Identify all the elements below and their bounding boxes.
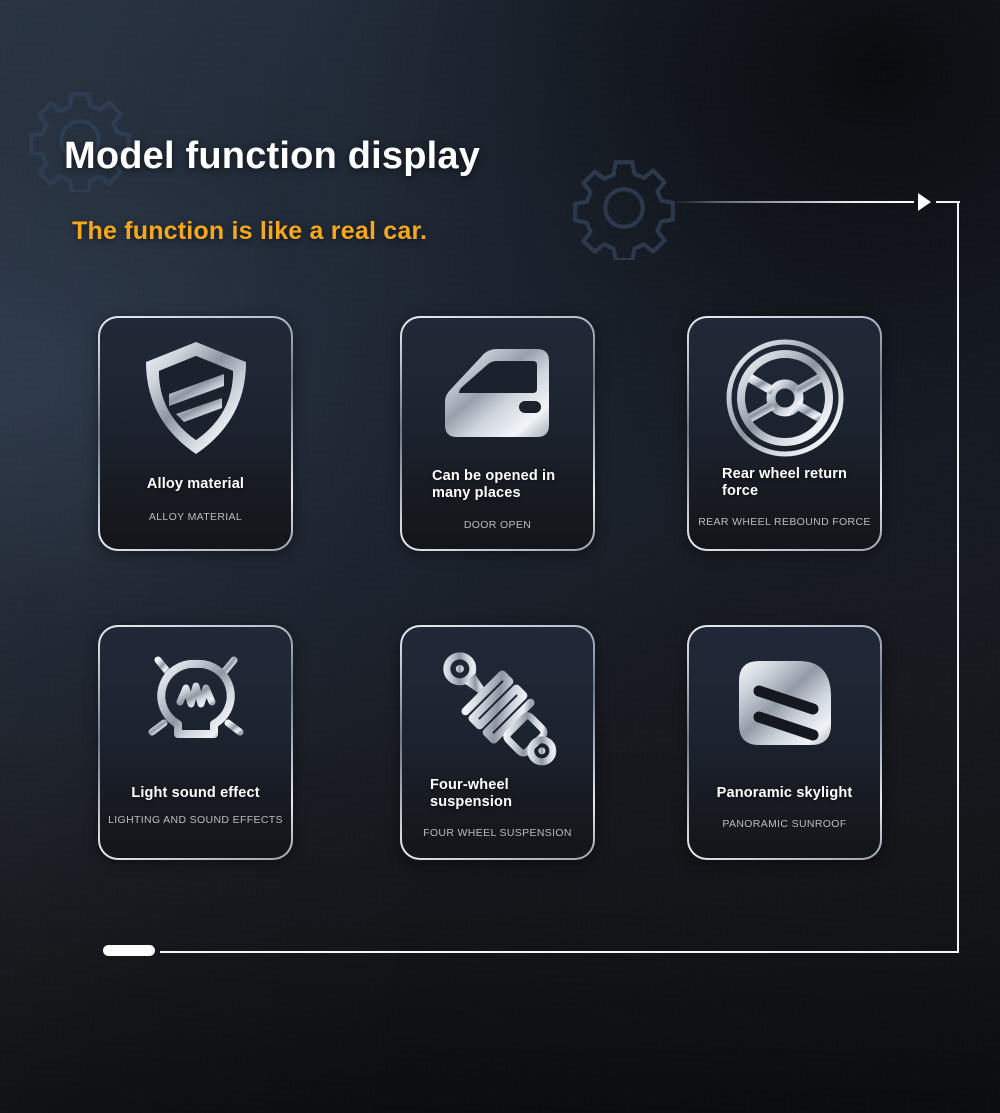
card-title: Four-wheel suspension	[402, 777, 593, 811]
feature-card-light-sound-effect[interactable]: Light sound effect LIGHTING AND SOUND EF…	[98, 625, 293, 860]
card-subtitle: FOUR WHEEL SUSPENSION	[402, 811, 593, 840]
feature-card-panoramic-skylight[interactable]: Panoramic skylight PANORAMIC SUNROOF	[687, 625, 882, 860]
card-title: Light sound effect	[100, 785, 291, 802]
card-text-block: Alloy material ALLOY MATERIAL	[100, 476, 291, 524]
shield-icon	[100, 330, 291, 466]
feature-card-door-open[interactable]: Can be opened in many places DOOR OPEN	[400, 316, 595, 551]
feature-card-grid: Alloy material ALLOY MATERIAL	[0, 0, 1000, 1113]
card-text-block: Four-wheel suspension FOUR WHEEL SUSPENS…	[402, 777, 593, 840]
lightbulb-icon	[100, 639, 291, 775]
card-title: Rear wheel return force	[689, 466, 880, 500]
card-title: Can be opened in many places	[402, 468, 593, 502]
card-text-block: Panoramic skylight PANORAMIC SUNROOF	[689, 785, 880, 831]
feature-card-rear-wheel-return-force[interactable]: Rear wheel return force REAR WHEEL REBOU…	[687, 316, 882, 551]
card-text-block: Light sound effect LIGHTING AND SOUND EF…	[100, 785, 291, 827]
card-subtitle: REAR WHEEL REBOUND FORCE	[689, 500, 880, 529]
card-subtitle: PANORAMIC SUNROOF	[689, 802, 880, 831]
wheel-icon	[689, 330, 880, 466]
card-text-block: Can be opened in many places DOOR OPEN	[402, 468, 593, 532]
card-title: Alloy material	[100, 476, 291, 493]
feature-card-four-wheel-suspension[interactable]: Four-wheel suspension FOUR WHEEL SUSPENS…	[400, 625, 595, 860]
card-subtitle: DOOR OPEN	[402, 502, 593, 532]
feature-card-alloy-material[interactable]: Alloy material ALLOY MATERIAL	[98, 316, 293, 551]
card-subtitle: ALLOY MATERIAL	[100, 493, 291, 524]
card-text-block: Rear wheel return force REAR WHEEL REBOU…	[689, 466, 880, 529]
card-subtitle: LIGHTING AND SOUND EFFECTS	[100, 802, 291, 827]
card-title: Panoramic skylight	[689, 785, 880, 802]
car-door-icon	[402, 330, 593, 466]
shock-absorber-icon	[402, 639, 593, 775]
sunroof-icon	[689, 639, 880, 775]
